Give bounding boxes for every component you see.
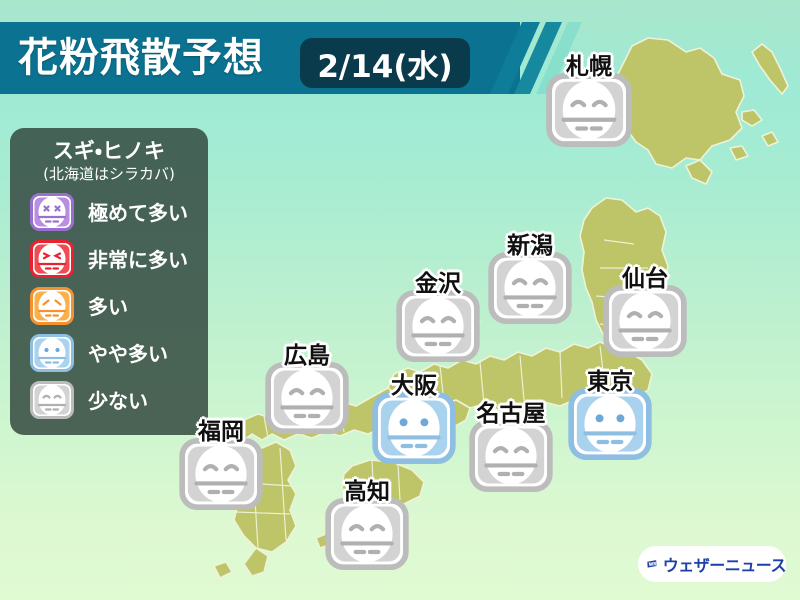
dot-eyes-masked-face-icon — [30, 334, 74, 372]
squint-eyes-masked-face-icon — [30, 240, 74, 278]
city-label-tokyo: 東京 — [587, 362, 633, 396]
date-badge: 2/14(水) — [300, 38, 470, 88]
smile-eyes-masked-face-icon — [602, 285, 688, 357]
weathernews-logo[interactable]: ウェザーニュース — [638, 546, 786, 582]
pollen-forecast-map: 花粉飛散予想 2/14(水) スギ・ヒノキ (北海道はシラカバ) 極めて多い — [0, 0, 800, 600]
legend-item-very-high: 非常に多い — [10, 235, 208, 282]
smile-eyes-masked-face-icon — [545, 73, 633, 147]
legend-label-low: 少ない — [88, 385, 148, 414]
legend-item-high: 多い — [10, 282, 208, 329]
legend-label-very-high: 非常に多い — [88, 244, 188, 273]
city-marker-sendai[interactable]: 仙台 — [602, 285, 688, 357]
smile-eyes-masked-face-icon — [395, 290, 481, 362]
city-marker-kanazawa[interactable]: 金沢 — [395, 290, 481, 362]
city-marker-kochi[interactable]: 高知 — [324, 498, 410, 570]
dot-eyes-masked-face-icon — [370, 392, 458, 464]
city-marker-hiroshima[interactable]: 広島 — [264, 362, 350, 434]
page-title: 花粉飛散予想 — [18, 30, 264, 86]
city-marker-niigata[interactable]: 新潟 — [487, 252, 573, 324]
city-marker-osaka[interactable]: 大阪 — [370, 392, 458, 464]
land-islet-ne-4 — [762, 132, 778, 146]
smile-eyes-masked-face-icon — [178, 438, 264, 510]
legend-subtitle: (北海道はシラカバ) — [10, 164, 208, 184]
city-label-niigata: 新潟 — [507, 226, 553, 260]
land-kyushu-south — [244, 548, 268, 576]
wn-mark-icon — [647, 552, 657, 576]
legend-item-moderate: やや多い — [10, 329, 208, 376]
city-label-nagoya: 名古屋 — [477, 394, 546, 428]
smile-eyes-masked-face-icon — [468, 420, 554, 492]
land-islet-ne-1 — [752, 44, 788, 94]
city-label-osaka: 大阪 — [391, 366, 437, 400]
land-hokkaido-cape — [686, 160, 712, 184]
land-islet-ne-3 — [730, 146, 748, 160]
legend-label-moderate: やや多い — [88, 338, 168, 367]
legend-title: スギ・ヒノキ — [10, 138, 208, 164]
logo-text: ウェザーニュース — [663, 552, 786, 576]
city-marker-nagoya[interactable]: 名古屋 — [468, 420, 554, 492]
smile-eyes-masked-face-icon — [487, 252, 573, 324]
smile-eyes-masked-face-icon — [324, 498, 410, 570]
legend-panel: スギ・ヒノキ (北海道はシラカバ) 極めて多い — [10, 128, 208, 435]
land-islet-ne-2 — [742, 110, 762, 126]
worried-eyes-masked-face-icon — [30, 287, 74, 325]
smile-eyes-masked-face-icon — [264, 362, 350, 434]
city-marker-sapporo[interactable]: 札幌 — [545, 73, 633, 147]
legend-item-extreme: 極めて多い — [10, 188, 208, 235]
x-eyes-masked-face-icon — [30, 193, 74, 231]
city-label-kanazawa: 金沢 — [415, 264, 461, 298]
dot-eyes-masked-face-icon — [566, 388, 654, 460]
legend-item-low: 少ない — [10, 376, 208, 423]
city-marker-tokyo[interactable]: 東京 — [566, 388, 654, 460]
smile-eyes-masked-face-icon — [30, 381, 74, 419]
city-label-sapporo: 札幌 — [566, 47, 612, 81]
city-label-sendai: 仙台 — [622, 259, 668, 293]
city-marker-fukuoka[interactable]: 福岡 — [178, 438, 264, 510]
land-islet-sw-1 — [214, 562, 232, 578]
city-label-kochi: 高知 — [344, 472, 390, 506]
city-label-hiroshima: 広島 — [284, 336, 330, 370]
legend-label-high: 多い — [88, 291, 128, 320]
legend-label-extreme: 極めて多い — [88, 197, 188, 226]
city-label-fukuoka: 福岡 — [198, 412, 244, 446]
